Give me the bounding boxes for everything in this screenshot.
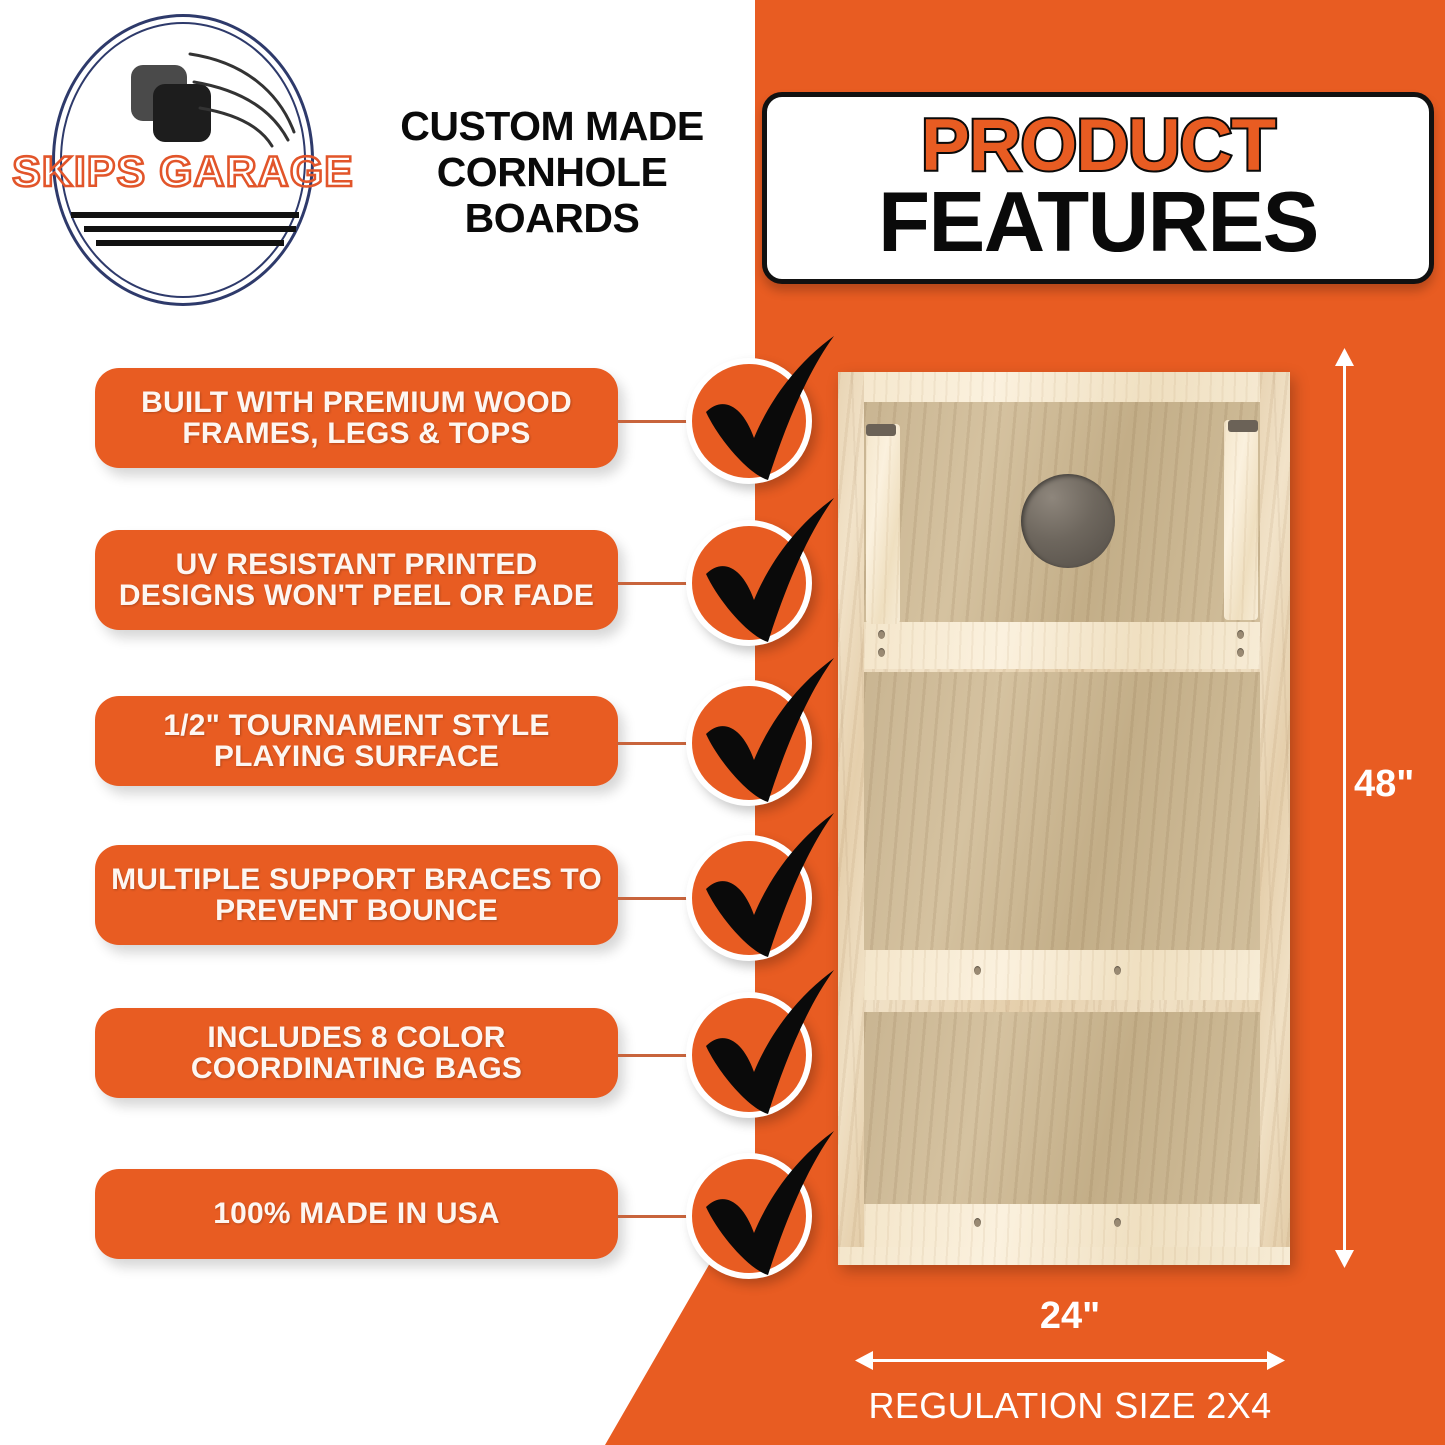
logo-rule-3 bbox=[96, 240, 284, 246]
logo-wordmark: SKIPS GARAGE bbox=[8, 148, 358, 197]
regulation-size-note: REGULATION SIZE 2X4 bbox=[790, 1385, 1350, 1427]
page-title-line-2: CORNHOLE bbox=[352, 150, 752, 196]
feature-row: INCLUDES 8 COLOR COORDINATING BAGS bbox=[0, 1008, 830, 1138]
folding-leg-right bbox=[1224, 420, 1258, 620]
feature-connector-line bbox=[617, 742, 693, 745]
height-dimension-label: 48" bbox=[1354, 763, 1414, 806]
support-brace-upper bbox=[864, 622, 1260, 669]
page-title: CUSTOM MADE CORNHOLE BOARDS bbox=[352, 104, 752, 242]
feature-connector-line bbox=[617, 1215, 693, 1218]
page-title-line-1: CUSTOM MADE bbox=[352, 104, 752, 150]
width-dimension-label: 24" bbox=[855, 1295, 1285, 1338]
feature-pill-support-braces[interactable]: MULTIPLE SUPPORT BRACES TO PREVENT BOUNC… bbox=[95, 845, 618, 945]
check-icon bbox=[686, 992, 812, 1118]
support-brace-lower bbox=[864, 1204, 1260, 1249]
feature-row: BUILT WITH PREMIUM WOOD FRAMES, LEGS & T… bbox=[0, 368, 830, 498]
feature-pill-made-in-usa[interactable]: 100% MADE IN USA bbox=[95, 1169, 618, 1259]
check-icon bbox=[686, 520, 812, 646]
feature-pill-uv-resistant[interactable]: UV RESISTANT PRINTED DESIGNS WON'T PEEL … bbox=[95, 530, 618, 630]
board-rail-left bbox=[838, 372, 864, 1265]
leg-hinge-left bbox=[866, 424, 896, 436]
cornhole-hole bbox=[1021, 474, 1115, 568]
board-rail-top bbox=[838, 372, 1290, 402]
feature-row: MULTIPLE SUPPORT BRACES TO PREVENT BOUNC… bbox=[0, 845, 830, 975]
leg-hinge-right bbox=[1228, 420, 1258, 432]
feature-connector-line bbox=[617, 420, 693, 423]
product-features-banner: PRODUCT FEATURES bbox=[762, 92, 1434, 284]
support-brace-middle bbox=[864, 950, 1260, 1000]
brand-logo[interactable]: SKIPS GARAGE bbox=[14, 8, 344, 308]
motion-arcs-icon bbox=[184, 48, 304, 158]
feature-connector-line bbox=[617, 897, 693, 900]
height-dimension-arrows bbox=[1330, 348, 1360, 1268]
banner-line-product: PRODUCT bbox=[921, 111, 1275, 181]
board-rail-bottom bbox=[838, 1247, 1290, 1265]
width-dimension-arrows bbox=[855, 1348, 1285, 1374]
logo-rule-1 bbox=[71, 212, 299, 218]
check-icon bbox=[686, 358, 812, 484]
board-cavity-middle bbox=[864, 672, 1260, 950]
check-icon bbox=[686, 835, 812, 961]
feature-row: 1/2" TOURNAMENT STYLE PLAYING SURFACE bbox=[0, 696, 830, 826]
width-dimension bbox=[855, 1348, 1285, 1374]
feature-connector-line bbox=[617, 582, 693, 585]
check-icon bbox=[686, 1153, 812, 1279]
logo-rule-2 bbox=[84, 226, 296, 232]
feature-row: UV RESISTANT PRINTED DESIGNS WON'T PEEL … bbox=[0, 530, 830, 660]
feature-pill-premium-wood[interactable]: BUILT WITH PREMIUM WOOD FRAMES, LEGS & T… bbox=[95, 368, 618, 468]
board-rail-right bbox=[1260, 372, 1290, 1265]
feature-row: 100% MADE IN USA bbox=[0, 1169, 830, 1299]
feature-pill-included-bags[interactable]: INCLUDES 8 COLOR COORDINATING BAGS bbox=[95, 1008, 618, 1098]
banner-line-features: FEATURES bbox=[878, 181, 1318, 264]
feature-pill-playing-surface[interactable]: 1/2" TOURNAMENT STYLE PLAYING SURFACE bbox=[95, 696, 618, 786]
folding-leg-left bbox=[866, 424, 900, 624]
feature-connector-line bbox=[617, 1054, 693, 1057]
infographic-stage: SKIPS GARAGE CUSTOM MADE CORNHOLE BOARDS… bbox=[0, 0, 1445, 1445]
cornhole-board-photo bbox=[838, 372, 1290, 1265]
page-title-line-3: BOARDS bbox=[352, 196, 752, 242]
check-icon bbox=[686, 680, 812, 806]
height-dimension: 48" bbox=[1330, 348, 1360, 1268]
